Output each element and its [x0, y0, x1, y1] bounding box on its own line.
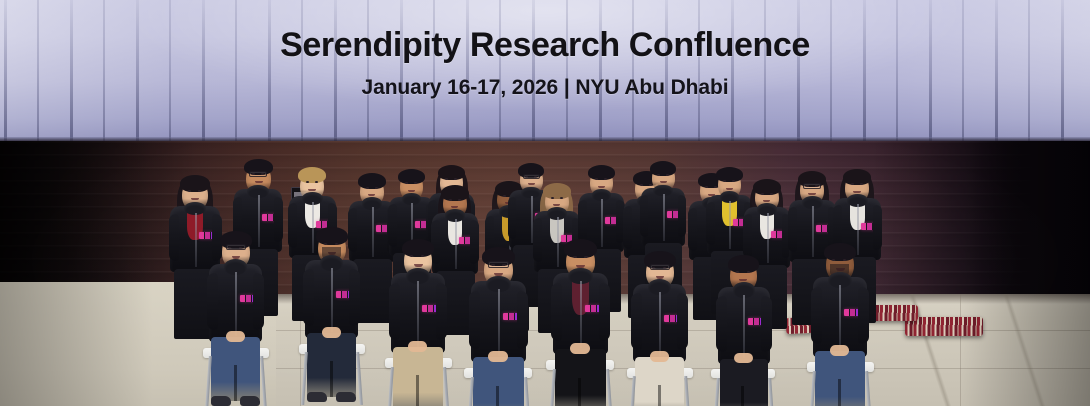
arm	[578, 200, 587, 242]
banner-text-block: Serendipity Research Confluence January …	[0, 0, 1090, 141]
eye	[714, 186, 717, 188]
eye	[705, 186, 708, 188]
torso	[432, 213, 478, 274]
shoe	[240, 396, 260, 406]
eye	[761, 193, 764, 195]
arm	[688, 208, 697, 250]
arm	[716, 296, 726, 351]
zipper	[743, 295, 745, 358]
zipper	[498, 289, 500, 355]
eye	[315, 181, 318, 183]
shoe	[307, 392, 327, 402]
glasses-icon	[523, 174, 540, 179]
glasses-icon	[650, 264, 670, 270]
mouth	[853, 191, 861, 193]
eye	[584, 256, 588, 258]
eye	[736, 271, 739, 273]
eye	[860, 183, 863, 185]
eye	[324, 243, 327, 245]
eye	[198, 190, 201, 192]
hair	[543, 183, 571, 199]
hands	[322, 327, 341, 338]
eye	[604, 178, 607, 180]
arm	[508, 197, 517, 239]
mouth	[528, 183, 535, 185]
wall-dark-edge	[972, 141, 1090, 313]
eye	[421, 255, 424, 257]
legs	[720, 359, 768, 406]
glasses-icon	[803, 183, 821, 189]
zipper	[857, 204, 859, 255]
eye	[414, 182, 417, 184]
mouth	[553, 204, 560, 206]
hair	[358, 173, 386, 189]
group-photo	[0, 141, 1090, 406]
zipper	[659, 292, 661, 356]
arm	[469, 291, 480, 349]
eye	[560, 197, 563, 199]
zipper	[235, 272, 237, 336]
arm	[303, 269, 314, 325]
hair	[843, 169, 871, 185]
leg-gap	[741, 386, 744, 406]
leg-gap	[578, 378, 581, 406]
arm	[389, 283, 400, 341]
mouth	[408, 190, 415, 192]
arm	[631, 293, 642, 349]
arm	[811, 287, 822, 345]
eye	[458, 199, 461, 201]
arm	[599, 283, 610, 341]
eye	[595, 178, 598, 180]
hair	[398, 169, 425, 184]
hair	[824, 243, 856, 261]
eye	[366, 187, 369, 189]
arm	[788, 207, 797, 252]
hands	[830, 345, 849, 356]
torso	[553, 273, 608, 354]
eye	[573, 256, 577, 258]
torso	[170, 206, 220, 272]
eye	[747, 271, 750, 273]
glasses-icon	[249, 171, 267, 177]
eye	[410, 255, 413, 257]
hair	[438, 165, 465, 180]
zipper	[331, 268, 333, 332]
torso	[641, 188, 685, 246]
event-date-venue: January 16-17, 2026 | NYU Abu Dhabi	[362, 76, 729, 100]
eye	[657, 174, 660, 176]
arm	[640, 195, 649, 237]
mouth	[763, 200, 770, 202]
zipper	[839, 285, 841, 351]
eye	[640, 184, 643, 186]
arm	[470, 220, 479, 264]
zipper	[417, 281, 419, 347]
eye	[723, 180, 726, 182]
hands	[408, 341, 427, 352]
mouth	[808, 193, 816, 195]
eye	[449, 199, 452, 201]
hair	[441, 185, 469, 201]
mouth	[255, 181, 263, 183]
hands	[650, 351, 669, 362]
leg-gap	[330, 361, 333, 397]
arm	[873, 205, 882, 250]
arm	[169, 214, 179, 262]
arm	[288, 203, 297, 248]
leg-gap	[416, 375, 419, 406]
zipper	[372, 207, 374, 257]
banner-photo-composite: Serendipity Research Confluence January …	[0, 0, 1090, 406]
arm	[349, 269, 360, 325]
zipper	[195, 213, 197, 267]
arm	[761, 296, 771, 351]
torso	[471, 281, 526, 362]
zipper	[258, 195, 260, 247]
glasses-icon	[488, 261, 509, 268]
mouth	[308, 189, 316, 191]
arm	[858, 287, 869, 345]
hair	[588, 165, 615, 180]
eye	[454, 178, 457, 180]
hair	[564, 239, 597, 258]
mouth	[739, 279, 747, 281]
eye	[832, 259, 835, 261]
zipper	[580, 281, 582, 347]
zipper	[663, 194, 665, 242]
hair	[728, 255, 759, 273]
arm	[348, 208, 357, 252]
mouth	[368, 194, 375, 196]
event-banner: Serendipity Research Confluence January …	[0, 0, 1090, 141]
eye	[666, 174, 669, 176]
hair	[316, 227, 348, 245]
leg-gap	[658, 385, 661, 406]
eye	[306, 181, 309, 183]
hands	[570, 343, 590, 354]
hair	[298, 167, 326, 183]
zipper	[767, 213, 769, 263]
hair	[402, 239, 434, 257]
mouth	[598, 186, 605, 188]
hands	[488, 351, 508, 362]
arm	[431, 220, 440, 264]
leg-gap	[496, 386, 499, 406]
eye	[732, 180, 735, 182]
hands	[734, 353, 753, 363]
eye	[551, 197, 554, 199]
eye	[649, 184, 652, 186]
mouth	[451, 206, 458, 208]
arm	[623, 206, 632, 248]
arm	[743, 214, 752, 258]
shoe	[336, 392, 356, 402]
eye	[188, 190, 191, 192]
zipper	[312, 202, 314, 253]
mouth	[726, 188, 733, 190]
arm	[388, 204, 397, 246]
shoe	[211, 396, 231, 406]
arm	[677, 293, 688, 349]
arm	[517, 291, 528, 349]
eye	[851, 183, 854, 185]
leg-gap	[838, 379, 841, 406]
mouth	[660, 181, 667, 183]
eye	[335, 243, 338, 245]
eye	[843, 259, 846, 261]
eye	[770, 193, 773, 195]
eye	[375, 187, 378, 189]
hands	[226, 331, 245, 342]
arm	[253, 273, 264, 329]
page-title: Serendipity Research Confluence	[280, 26, 810, 65]
arm	[706, 202, 715, 244]
mouth	[191, 198, 199, 200]
arm	[678, 195, 687, 237]
arm	[551, 283, 562, 341]
hair	[650, 161, 676, 176]
zipper	[557, 217, 559, 267]
zipper	[812, 206, 814, 257]
zipper	[455, 219, 457, 269]
eye	[445, 178, 448, 180]
arm	[436, 283, 447, 341]
eye	[405, 182, 408, 184]
hair	[716, 167, 743, 182]
hair	[753, 179, 781, 195]
arm	[207, 273, 218, 329]
arm	[533, 218, 542, 262]
zipper	[729, 201, 731, 249]
eye	[503, 195, 506, 197]
zipper	[601, 199, 603, 247]
hair	[180, 175, 210, 192]
glasses-icon	[226, 244, 246, 250]
arm	[274, 197, 284, 242]
leg-gap	[234, 365, 237, 401]
